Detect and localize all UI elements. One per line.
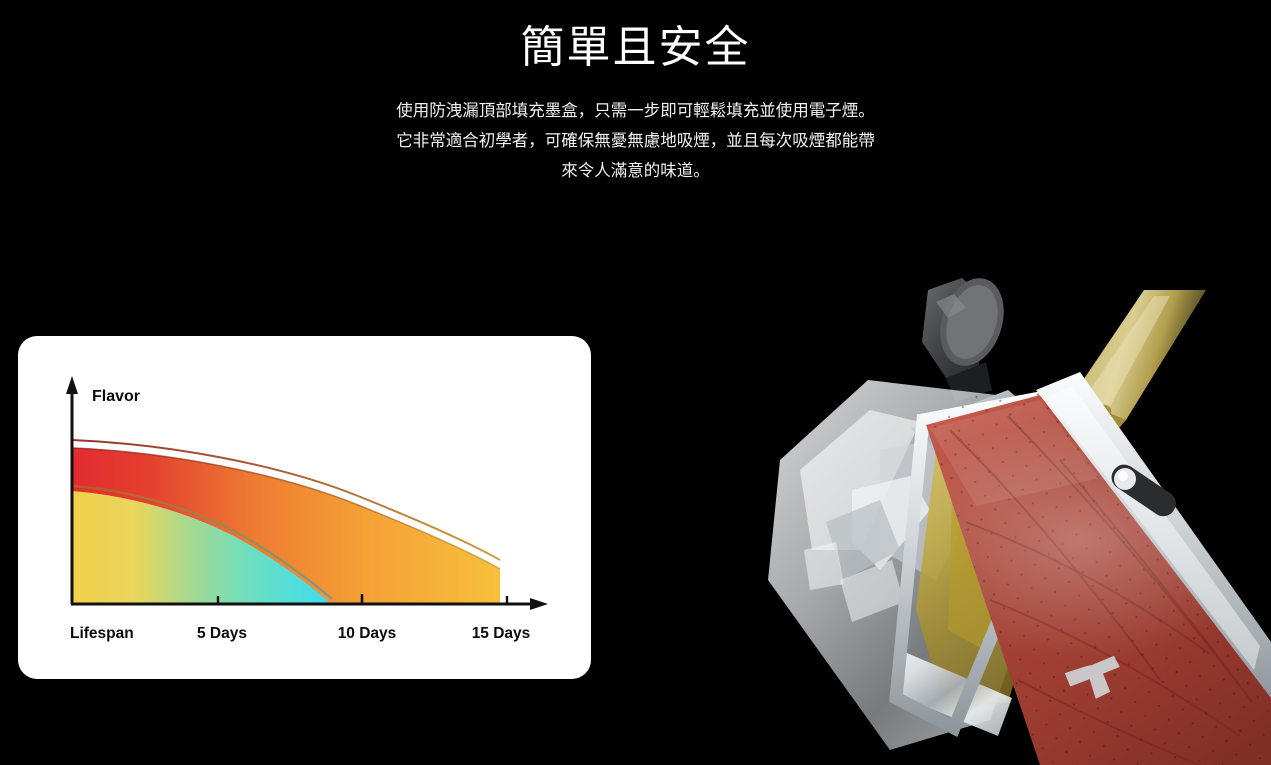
flavor-area-chart: Top Fill Cartridge Flavor Lifespan 5 Day… (18, 336, 591, 679)
x-axis-arrow (530, 598, 548, 610)
x-tick-label-5-days: 5 Days (197, 625, 247, 642)
x-tick-label-15-days: 15 Days (472, 625, 531, 642)
hero-description-line-2: 它非常適合初學者，可確保無憂無慮地吸煙，並且每次吸煙都能帶 (336, 126, 936, 156)
hero-description-line-1: 使用防洩漏頂部填充墨盒，只需一步即可輕鬆填充並使用電子煙。 (336, 96, 936, 126)
x-tick-label-lifespan: Lifespan (70, 625, 134, 642)
page-title: 簡單且安全 (0, 0, 1271, 74)
product-image (740, 250, 1271, 765)
hero-header: 簡單且安全 使用防洩漏頂部填充墨盒，只需一步即可輕鬆填充並使用電子煙。 它非常適… (0, 0, 1271, 186)
y-axis-arrow (66, 376, 78, 394)
vape-device-illustration (740, 250, 1271, 765)
y-axis-label: Flavor (92, 388, 140, 405)
hero-description-line-3: 來令人滿意的味道。 (336, 156, 936, 186)
chart-watermark: Top Fill Cartridge (343, 440, 460, 456)
hero-description: 使用防洩漏頂部填充墨盒，只需一步即可輕鬆填充並使用電子煙。 它非常適合初學者，可… (336, 74, 936, 186)
x-tick-label-10-days: 10 Days (338, 625, 397, 642)
flavor-chart-card: Top Fill Cartridge Flavor Lifespan 5 Day… (18, 336, 591, 679)
